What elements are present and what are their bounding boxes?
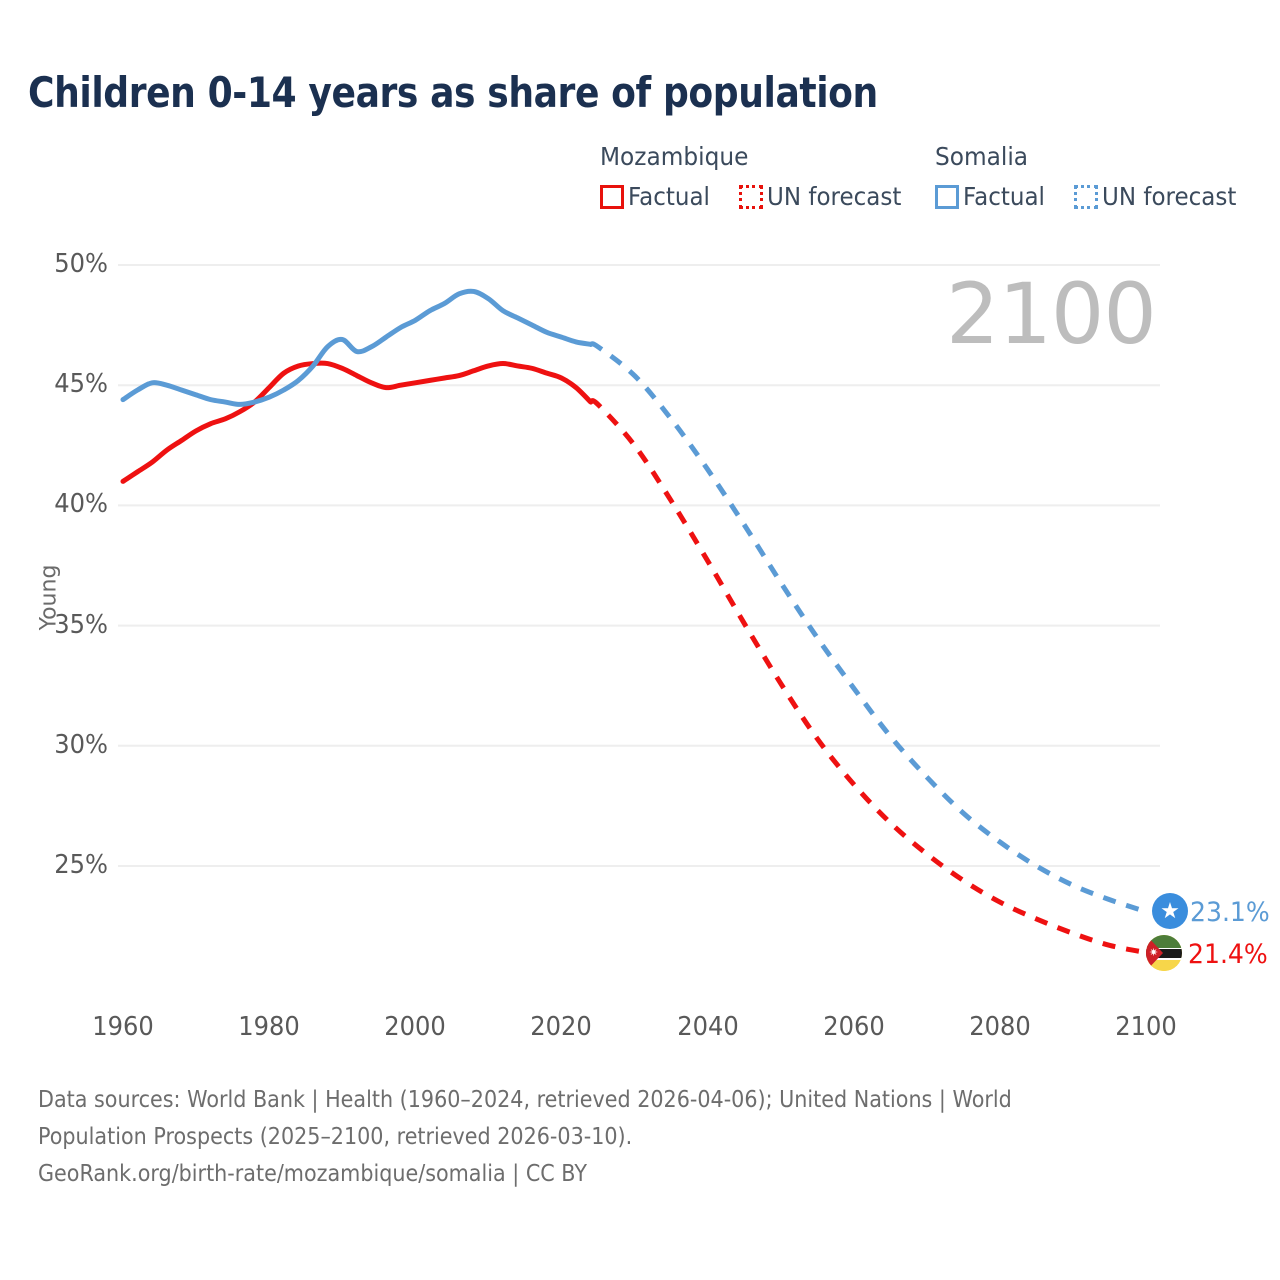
watermark-year-label: 2100 bbox=[946, 272, 1156, 356]
somalia-end-value: 23.1% bbox=[1190, 897, 1270, 928]
star-icon: ★ bbox=[1160, 900, 1180, 922]
y-tick-label: 40% bbox=[8, 489, 108, 519]
flag-emblem-icon: ✷ bbox=[1149, 948, 1158, 959]
footer-line-3[interactable]: GeoRank.org/birth-rate/mozambique/somali… bbox=[38, 1156, 1118, 1193]
y-tick-label: 35% bbox=[8, 610, 108, 640]
x-tick-label: 2040 bbox=[652, 1012, 764, 1042]
x-tick-label: 1980 bbox=[213, 1012, 325, 1042]
mozambique-flag-marker-icon[interactable]: ✷ bbox=[1146, 935, 1182, 971]
y-tick-label: 45% bbox=[8, 369, 108, 399]
x-tick-label: 2100 bbox=[1090, 1012, 1202, 1042]
footer-line-2: Population Prospects (2025–2100, retriev… bbox=[38, 1119, 1118, 1156]
y-tick-label: 50% bbox=[8, 249, 108, 279]
x-tick-label: 1960 bbox=[67, 1012, 179, 1042]
chart-page: Children 0-14 years as share of populati… bbox=[0, 0, 1280, 1280]
somalia-flag-marker-icon[interactable]: ★ bbox=[1152, 893, 1188, 929]
y-tick-label: 30% bbox=[8, 730, 108, 760]
footer-line-1: Data sources: World Bank | Health (1960–… bbox=[38, 1082, 1118, 1119]
y-tick-label: 25% bbox=[8, 850, 108, 880]
footer-sources: Data sources: World Bank | Health (1960–… bbox=[38, 1082, 1238, 1193]
x-tick-label: 2060 bbox=[798, 1012, 910, 1042]
x-tick-label: 2020 bbox=[506, 1012, 618, 1042]
x-tick-label: 2000 bbox=[359, 1012, 471, 1042]
mozambique-end-value: 21.4% bbox=[1188, 939, 1268, 970]
x-tick-label: 2080 bbox=[944, 1012, 1056, 1042]
series-lines bbox=[123, 291, 1146, 952]
